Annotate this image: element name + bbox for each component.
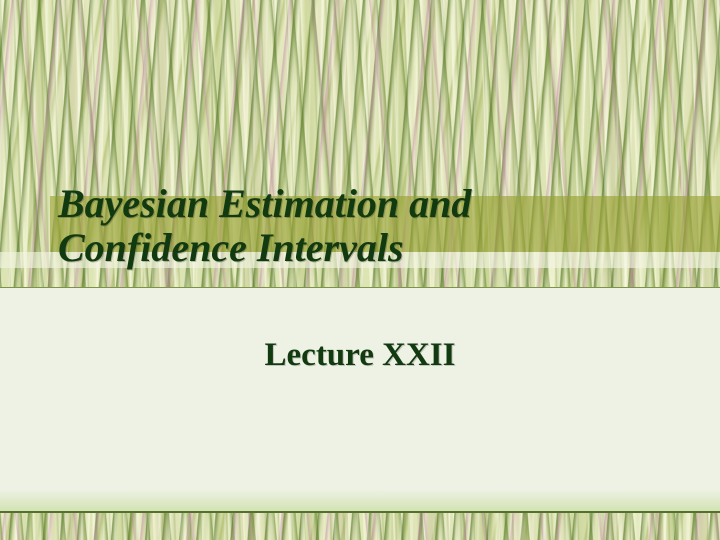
slide-title: Bayesian Estimation and Confidence Inter… bbox=[58, 182, 658, 270]
slide-title-line-1: Bayesian Estimation and bbox=[58, 182, 658, 226]
slide-content-panel bbox=[0, 287, 720, 513]
slide-title-line-2: Confidence Intervals bbox=[58, 226, 658, 270]
panel-bottom-fade bbox=[0, 489, 720, 511]
slide-subtitle: Lecture XXII bbox=[0, 337, 720, 373]
presentation-slide: Bayesian Estimation and Confidence Inter… bbox=[0, 0, 720, 540]
